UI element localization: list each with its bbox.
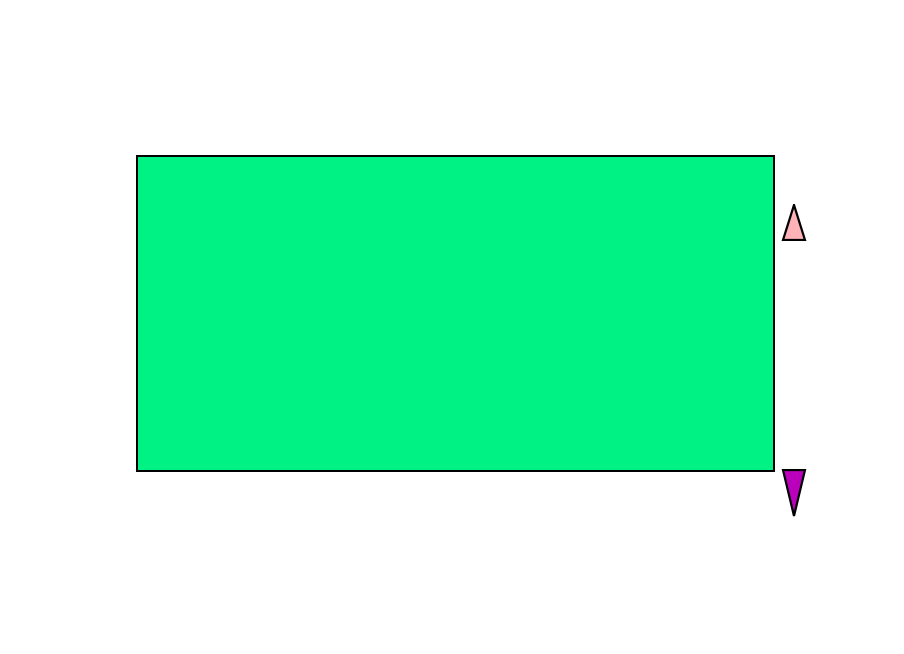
colorbar	[783, 240, 805, 470]
contour-plot-area	[136, 155, 775, 472]
colorbar-under-arrow	[779, 469, 809, 517]
colorbar-over-arrow	[779, 204, 809, 241]
contour-field	[138, 157, 773, 470]
